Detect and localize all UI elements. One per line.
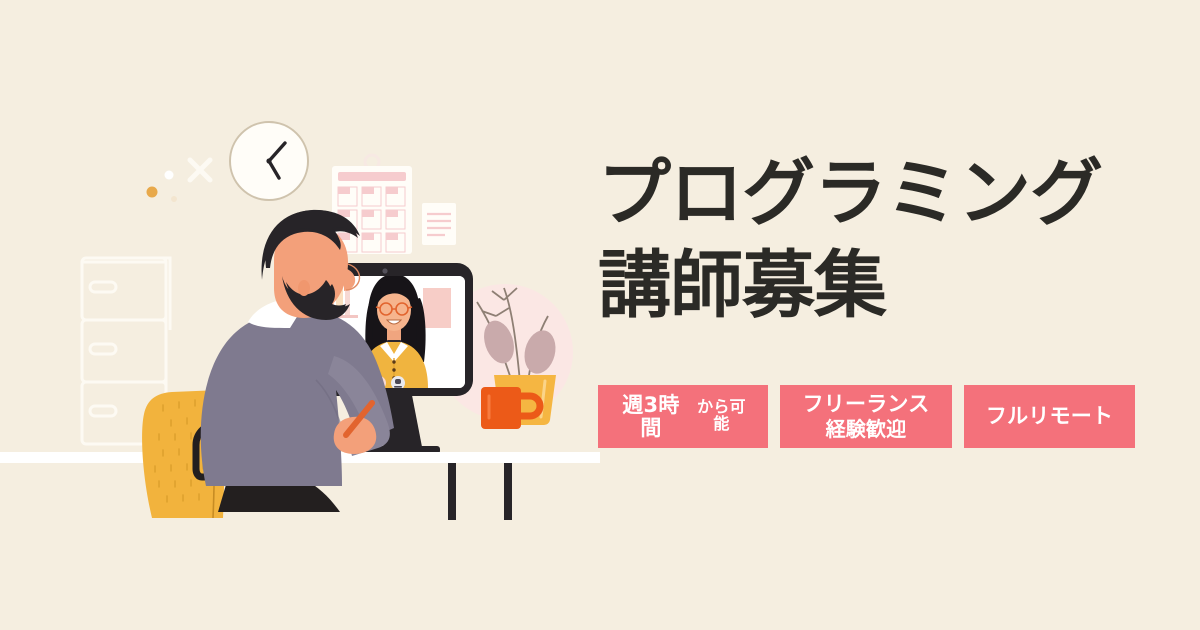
- dot-white: [165, 171, 174, 180]
- online-lesson-illustration: [0, 0, 600, 630]
- dot-orange: [147, 187, 158, 198]
- wall-note: [422, 203, 456, 245]
- weekly-hours-badge-sub: から可能: [691, 399, 752, 433]
- wall-clock: [230, 122, 308, 200]
- weekly-hours-badge-main: 週3時間: [614, 394, 688, 438]
- sparkle-icon: [190, 160, 210, 180]
- freelance-badge-line1: フリーランス: [803, 393, 930, 415]
- full-remote-badge-label: フルリモート: [986, 405, 1113, 427]
- full-remote-badge[interactable]: フルリモート: [964, 385, 1135, 448]
- ear: [298, 280, 310, 296]
- webcam-icon: [382, 268, 387, 273]
- desk-leg-right: [504, 463, 512, 520]
- badge-row: 週3時間 から可能 フリーランス 経験歓迎 フルリモート: [598, 385, 1135, 448]
- wall-art: [423, 288, 451, 328]
- freelance-badge[interactable]: フリーランス 経験歓迎: [780, 385, 952, 448]
- wall-calendar: [332, 155, 412, 254]
- dot-faint: [171, 196, 177, 202]
- promotional-banner: プログラミング 講師募集 週3時間 から可能 フリーランス 経験歓迎 フルリモー…: [0, 0, 1200, 630]
- headline-block: プログラミング 講師募集: [598, 155, 1158, 325]
- desk-leg-left: [448, 463, 456, 520]
- headline-line-2: 講師募集: [598, 247, 1158, 325]
- freelance-badge-line2: 経験歓迎: [826, 419, 907, 440]
- headline-line-1: プログラミング: [598, 155, 1158, 233]
- weekly-hours-badge[interactable]: 週3時間 から可能: [598, 385, 768, 448]
